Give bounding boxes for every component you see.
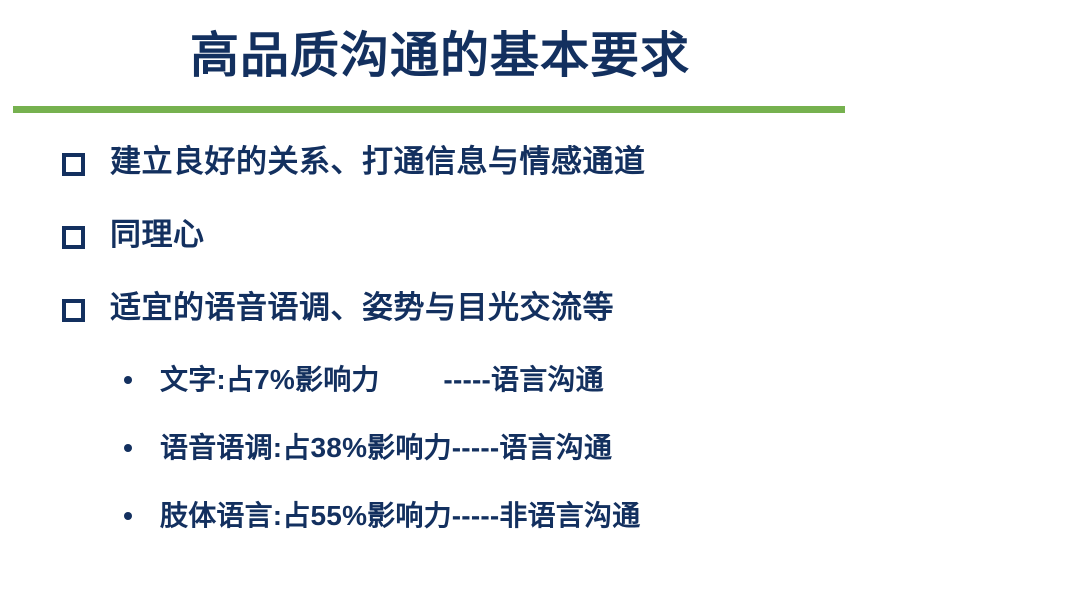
hollow-square-bullet-icon <box>62 299 85 322</box>
bullet-item-3: 适宜的语音语调、姿势与目光交流等 <box>0 286 1080 359</box>
bullet-item-2: 同理心 <box>0 213 1080 286</box>
page-title: 高品质沟通的基本要求 <box>0 28 880 84</box>
bullet-item-2-label: 同理心 <box>110 213 205 257</box>
round-dot-bullet-icon <box>124 512 132 520</box>
round-dot-bullet-icon <box>124 444 132 452</box>
sub-bullet-item-3: 肢体语言:占55%影响力-----非语言沟通 <box>0 495 1080 563</box>
sub-bullet-item-2: 语音语调:占38%影响力-----语言沟通 <box>0 427 1080 495</box>
bullet-item-1-label: 建立良好的关系、打通信息与情感通道 <box>110 140 646 184</box>
slide-canvas: 高品质沟通的基本要求 建立良好的关系、打通信息与情感通道 同理心 适宜的语音语调… <box>0 0 1080 608</box>
sub-bullet-item-3-label: 肢体语言:占55%影响力-----非语言沟通 <box>160 495 640 537</box>
title-divider-rule <box>13 106 845 113</box>
bullet-item-1: 建立良好的关系、打通信息与情感通道 <box>0 140 1080 213</box>
sub-bullet-item-1: 文字:占7%影响力 -----语言沟通 <box>0 359 1080 427</box>
bullet-item-3-label: 适宜的语音语调、姿势与目光交流等 <box>110 286 614 330</box>
hollow-square-bullet-icon <box>62 226 85 249</box>
bullet-list: 建立良好的关系、打通信息与情感通道 同理心 适宜的语音语调、姿势与目光交流等 文… <box>0 140 1080 563</box>
sub-bullet-item-1-label: 文字:占7%影响力 -----语言沟通 <box>160 359 604 401</box>
hollow-square-bullet-icon <box>62 153 85 176</box>
round-dot-bullet-icon <box>124 376 132 384</box>
sub-bullet-item-2-label: 语音语调:占38%影响力-----语言沟通 <box>160 427 612 469</box>
